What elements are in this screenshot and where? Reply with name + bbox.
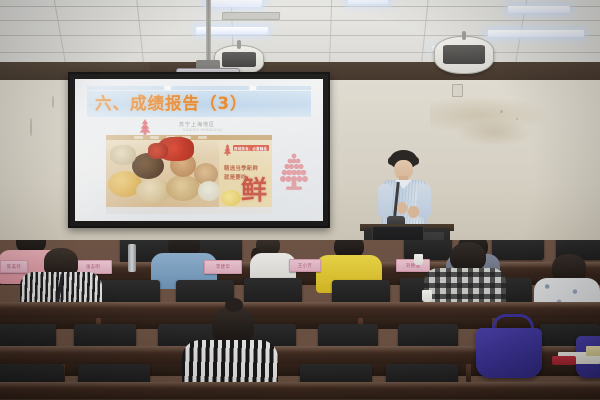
cup-1 [414,254,423,265]
person-striped-woman [22,248,100,310]
ceiling-vent [222,12,280,20]
slide-product-photo: 西域美食，必属精品 精选当季新鲜 就是要吃 鲜 [106,135,272,207]
presenter-arm-right [417,184,431,218]
name-card: 李建华 [204,260,242,274]
promo-line-1: 精选当季新鲜 [224,164,258,172]
slide-top-strip [87,86,311,90]
food-item [110,145,136,165]
desk-row-4 [0,382,600,400]
slide-subtitle-small: SUNING SHANGHAI [183,128,223,132]
presenter-hand-left [397,202,407,214]
wall-scuff [52,96,54,108]
promo-logo-icon [223,143,232,155]
projection-screen: 六、成绩报告（3） 苏宁上海地区 SUNING SHANGHAI [75,79,323,221]
name-card-text: 陈美玲 [7,264,21,270]
name-card-text: 王小芳 [298,263,312,269]
desk-leg [466,364,471,382]
wall-speaker-right [434,36,494,74]
promo-headline-char: 鲜 [241,178,267,204]
notebook [586,346,600,356]
thermos [128,244,136,272]
ceiling-light [348,0,388,4]
presenter-arm-left [378,184,392,218]
wall-scuff [500,110,503,113]
slide-subtitle: 苏宁上海地区 [179,121,215,128]
presenter-hand-right [408,206,419,218]
food-item [198,181,220,201]
handbag [476,328,542,378]
conference-room-photo: 六、成绩报告（3） 苏宁上海地区 SUNING SHANGHAI [0,0,600,400]
red-berries [148,143,168,159]
slide-title: 六、成绩报告（3） [95,92,305,116]
wall-scuff [30,118,32,136]
projection-screen-frame: 六、成绩报告（3） 苏宁上海地区 SUNING SHANGHAI [68,72,330,228]
speaker-grille [222,52,257,67]
person-plaid-shirt [424,242,506,310]
speaker-bracket [462,31,467,40]
hair-bun [225,298,243,312]
slide-promo-panel: 西域美食，必属精品 精选当季新鲜 就是要吃 鲜 [219,140,272,207]
seating-area: 张志明 李建华 王小芳 刘德强 陈美玲 [0,240,600,400]
name-card-text: 李建华 [216,264,230,270]
power-outlet [452,84,463,97]
brand-logo-large-icon [279,153,309,193]
wall-stain [455,120,535,146]
slide-footer-strip [106,207,272,214]
speaker-grille [443,45,485,64]
projector-pole [206,0,211,62]
lemon-graphic [221,190,241,206]
cup-2 [422,290,432,302]
ceiling [0,0,600,66]
ceiling-light [206,0,263,7]
ceiling-light [508,6,571,13]
brand-logo-icon [138,119,152,135]
promo-badge-text: 西域美食，必属精品 [234,146,267,151]
speaker-bracket [237,40,241,49]
phone [552,356,576,365]
wall-scuff [516,118,518,120]
name-card: 王小芳 [289,259,321,272]
ceiling-light [488,30,584,37]
